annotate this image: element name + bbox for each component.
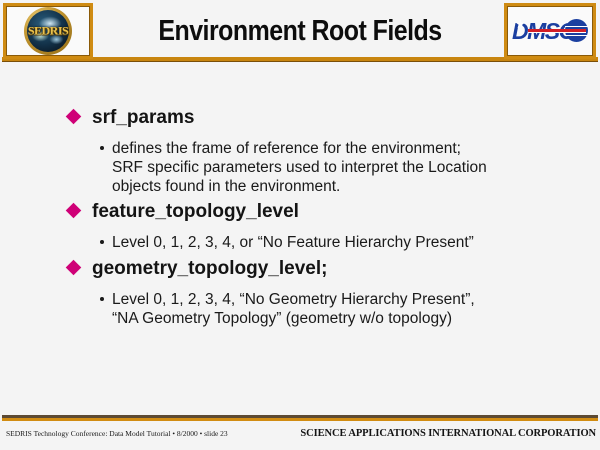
bullet-heading-label: geometry_topology_level;: [92, 258, 327, 279]
slide-header: SEDRIS Environment Root Fields DMSO ★: [0, 0, 600, 66]
dmso-globe-line-1: [565, 26, 588, 27]
diamond-bullet-icon: [66, 109, 82, 125]
sub-bullet-line: objects found in the environment.: [112, 178, 340, 195]
dot-bullet-icon: [100, 240, 104, 244]
slide-canvas: SEDRIS Environment Root Fields DMSO ★ s: [0, 0, 600, 450]
sub-bullet-line: Level 0, 1, 2, 3, 4, “No Geometry Hierar…: [112, 291, 475, 308]
footer-company-name: SCIENCE APPLICATIONS INTERNATIONAL CORPO…: [300, 428, 596, 439]
sub-bullet-continuation: “NA Geometry Topology” (geometry w/o top…: [0, 309, 600, 328]
footer-conference-info: SEDRIS Technology Conference: Data Model…: [6, 429, 228, 438]
bullet-heading-geometry-topology-level: geometry_topology_level;: [0, 257, 600, 281]
sub-bullet-item: Level 0, 1, 2, 3, 4, or “No Feature Hier…: [0, 233, 600, 252]
page-title: Environment Root Fields: [128, 10, 472, 52]
diamond-bullet-icon: [66, 203, 82, 219]
sub-bullet-line: “NA Geometry Topology” (geometry w/o top…: [112, 310, 452, 327]
content-block-geometry-topology-level: geometry_topology_level; Level 0, 1, 2, …: [0, 257, 600, 328]
sub-bullet-item: defines the frame of reference for the e…: [0, 139, 600, 158]
content-block-feature-topology-level: feature_topology_level Level 0, 1, 2, 3,…: [0, 200, 600, 252]
sub-bullet-line: SRF specific parameters used to interpre…: [112, 159, 487, 176]
bullet-heading-label: srf_params: [92, 107, 194, 128]
sub-bullet-line: Level 0, 1, 2, 3, 4, or “No Feature Hier…: [112, 234, 474, 251]
sub-bullet-item: Level 0, 1, 2, 3, 4, “No Geometry Hierar…: [0, 290, 600, 309]
sub-bullet-line: defines the frame of reference for the e…: [112, 140, 461, 157]
header-divider-dark: [2, 61, 598, 62]
sedris-logo-frame: SEDRIS: [3, 3, 93, 59]
dmso-logo-icon: DMSO ★: [512, 18, 588, 44]
bullet-heading-feature-topology-level: feature_topology_level: [0, 200, 600, 224]
dot-bullet-icon: [100, 297, 104, 301]
bullet-heading-srf-params: srf_params: [0, 106, 600, 130]
slide-body: srf_params defines the frame of referenc…: [0, 70, 600, 408]
bullet-heading-label: feature_topology_level: [92, 201, 299, 222]
sedris-logo-text: SEDRIS: [24, 24, 72, 39]
sedris-globe-icon: SEDRIS: [24, 7, 72, 55]
footer-divider-gold: [2, 418, 598, 421]
content-block-srf-params: srf_params defines the frame of referenc…: [0, 106, 600, 196]
dmso-white-stripe: [528, 32, 586, 33]
sub-bullet-continuation: objects found in the environment.: [0, 177, 600, 196]
dot-bullet-icon: [100, 146, 104, 150]
dmso-globe-line-2: [565, 35, 588, 36]
diamond-bullet-icon: [66, 260, 82, 276]
dmso-logo-frame: DMSO ★: [504, 3, 596, 59]
sub-bullet-continuation: SRF specific parameters used to interpre…: [0, 158, 600, 177]
